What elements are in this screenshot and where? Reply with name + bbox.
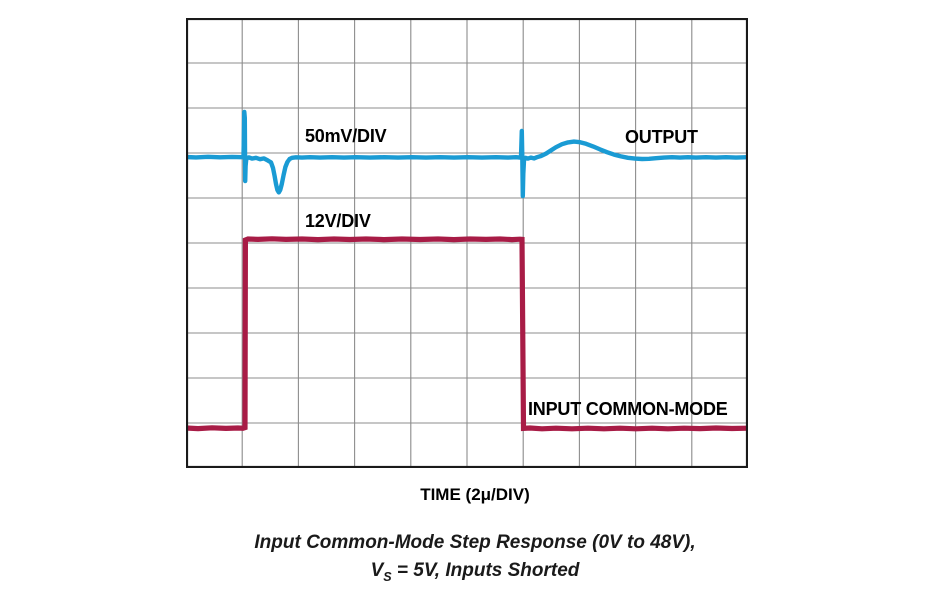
x-axis-label: TIME (2μ/DIV)	[0, 485, 950, 505]
annotation-output-scale: 50mV/DIV	[305, 126, 386, 147]
caption-vs-symbol: V	[371, 560, 384, 581]
caption-line-1: Input Common-Mode Step Response (0V to 4…	[0, 529, 950, 557]
caption-line-2-rest: = 5V, Inputs Shorted	[392, 560, 580, 581]
caption-line-2: VS = 5V, Inputs Shorted	[0, 557, 950, 586]
annotation-output-trace: OUTPUT	[625, 127, 698, 148]
caption-vs-subscript: S	[383, 569, 391, 583]
figure-caption: Input Common-Mode Step Response (0V to 4…	[0, 529, 950, 586]
figure-container: 50mV/DIV 12V/DIV OUTPUT INPUT COMMON-MOD…	[0, 0, 950, 599]
annotation-input-common-mode-trace: INPUT COMMON-MODE	[528, 399, 728, 420]
annotation-input-scale: 12V/DIV	[305, 211, 371, 232]
